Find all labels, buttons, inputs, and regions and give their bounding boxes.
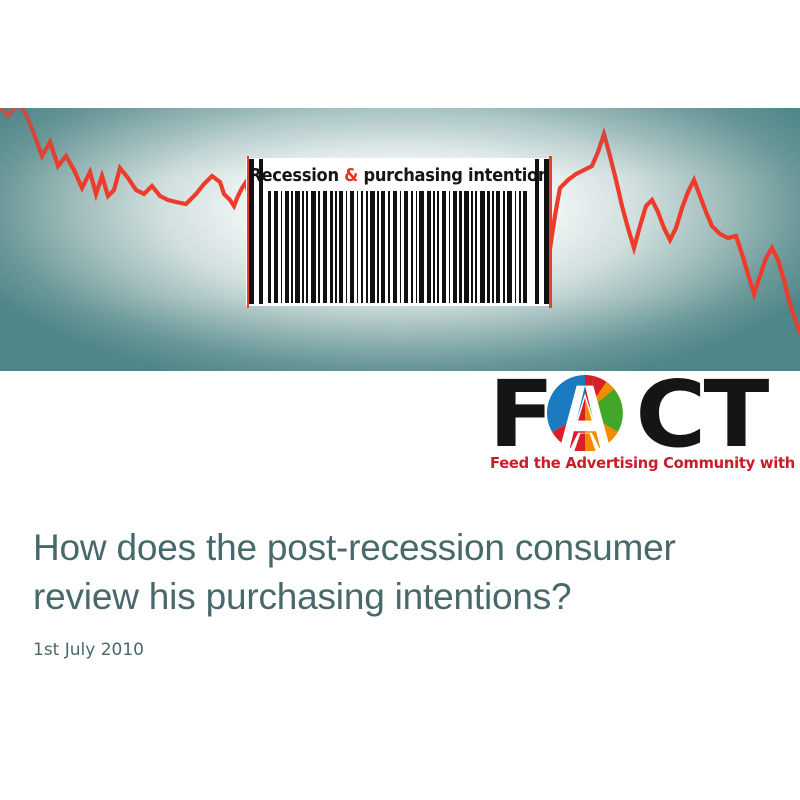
barcode-bars bbox=[268, 191, 530, 303]
barcode-graphic-real: Recession & purchasing intention bbox=[246, 158, 552, 306]
logo-letter-c: C bbox=[635, 369, 704, 461]
barcode-guard-bar-left-outer bbox=[249, 159, 254, 304]
barcode-label-suffix: purchasing intention bbox=[358, 166, 549, 186]
fact-wordmark: F bbox=[490, 372, 790, 454]
page-title: How does the post-recession consumer rev… bbox=[33, 524, 763, 622]
barcode-guard-bar-left-inner bbox=[259, 159, 263, 304]
barcode-label-ampersand: & bbox=[344, 166, 358, 186]
colorful-a-pie-icon bbox=[547, 374, 623, 452]
fact-logo: F bbox=[490, 372, 790, 480]
slide-date: 1st July 2010 bbox=[33, 640, 763, 660]
title-block: How does the post-recession consumer rev… bbox=[33, 524, 763, 660]
barcode-label: Recession & purchasing intention bbox=[246, 161, 552, 191]
barcode-space bbox=[527, 191, 529, 303]
barcode-label-prefix: Recession bbox=[249, 166, 344, 186]
barcode-right-red-edge bbox=[549, 156, 552, 308]
barcode-left-red-edge bbox=[247, 156, 250, 308]
logo-letter-f: F bbox=[488, 369, 552, 461]
recession-banner-image: Recession & purchasing intention bbox=[0, 108, 800, 371]
barcode-label-text: Recession & purchasing intention bbox=[249, 166, 549, 186]
barcode-guard-bar-right-inner bbox=[535, 159, 539, 304]
logo-letter-t: T bbox=[703, 369, 767, 461]
logo-tagline: Feed the Advertising Community with Tren… bbox=[490, 454, 800, 472]
